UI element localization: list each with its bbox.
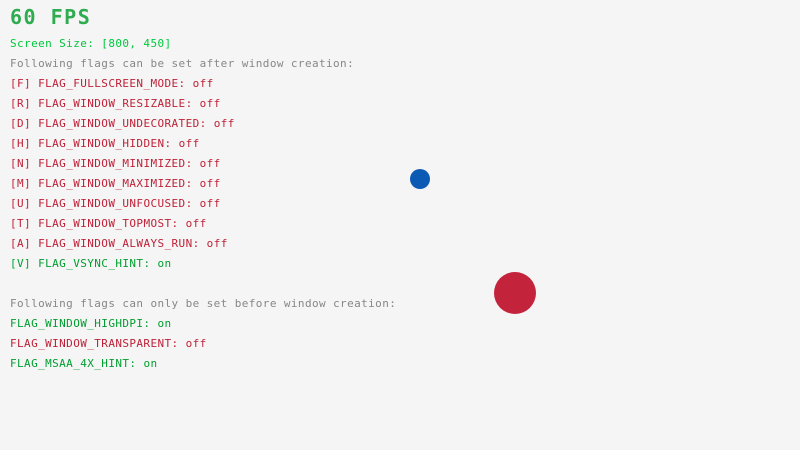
flag-value: off [200, 97, 221, 110]
flag-hotkey: [D] [10, 117, 31, 130]
flag-value: off [200, 177, 221, 190]
flag-value: off [186, 217, 207, 230]
flag-row-flag-window-always-run[interactable]: [A] FLAG_WINDOW_ALWAYS_RUN: off [10, 238, 228, 249]
flag-value: off [186, 337, 207, 350]
flag-hotkey: [U] [10, 197, 31, 210]
flag-value: off [179, 137, 200, 150]
flag-value: off [207, 237, 228, 250]
flag-row-flag-window-topmost[interactable]: [T] FLAG_WINDOW_TOPMOST: off [10, 218, 207, 229]
flag-row-flag-window-transparent[interactable]: FLAG_WINDOW_TRANSPARENT: off [10, 338, 207, 349]
flag-row-flag-window-highdpi[interactable]: FLAG_WINDOW_HIGHDPI: on [10, 318, 172, 329]
flag-name: FLAG_WINDOW_MINIMIZED: [38, 157, 193, 170]
flag-hotkey: [M] [10, 177, 31, 190]
flag-name: FLAG_WINDOW_UNFOCUSED: [38, 197, 193, 210]
flag-row-flag-window-maximized[interactable]: [M] FLAG_WINDOW_MAXIMIZED: off [10, 178, 221, 189]
flag-value: on [157, 317, 171, 330]
flag-name: FLAG_WINDOW_ALWAYS_RUN: [38, 237, 200, 250]
flag-name: FLAG_WINDOW_TRANSPARENT: [10, 337, 179, 350]
fps-counter: 60 FPS [10, 7, 91, 27]
flag-name: FLAG_WINDOW_RESIZABLE: [38, 97, 193, 110]
flag-name: FLAG_WINDOW_TOPMOST: [38, 217, 178, 230]
flag-row-flag-window-minimized[interactable]: [N] FLAG_WINDOW_MINIMIZED: off [10, 158, 221, 169]
flag-row-flag-window-unfocused[interactable]: [U] FLAG_WINDOW_UNFOCUSED: off [10, 198, 221, 209]
flag-value: off [193, 77, 214, 90]
blue-circle-shape [410, 169, 430, 189]
flag-name: FLAG_WINDOW_MAXIMIZED: [38, 177, 193, 190]
flag-name: FLAG_WINDOW_HIGHDPI: [10, 317, 150, 330]
flag-row-flag-window-resizable[interactable]: [R] FLAG_WINDOW_RESIZABLE: off [10, 98, 221, 109]
flag-value: off [214, 117, 235, 130]
flag-name: FLAG_VSYNC_HINT: [38, 257, 150, 270]
flag-name: FLAG_WINDOW_UNDECORATED: [38, 117, 207, 130]
flag-value: off [200, 197, 221, 210]
flag-name: FLAG_FULLSCREEN_MODE: [38, 77, 185, 90]
red-circle-shape [494, 272, 536, 314]
flag-hotkey: [F] [10, 77, 31, 90]
flag-row-flag-fullscreen-mode[interactable]: [F] FLAG_FULLSCREEN_MODE: off [10, 78, 214, 89]
flag-row-flag-window-undecorated[interactable]: [D] FLAG_WINDOW_UNDECORATED: off [10, 118, 235, 129]
flag-name: FLAG_WINDOW_HIDDEN: [38, 137, 171, 150]
flag-row-flag-vsync-hint[interactable]: [V] FLAG_VSYNC_HINT: on [10, 258, 172, 269]
flag-row-flag-window-hidden[interactable]: [H] FLAG_WINDOW_HIDDEN: off [10, 138, 200, 149]
section-header-0: Following flags can be set after window … [10, 58, 354, 69]
flag-hotkey: [N] [10, 157, 31, 170]
flag-value: on [158, 257, 172, 270]
flag-hotkey: [H] [10, 137, 31, 150]
flag-hotkey: [R] [10, 97, 31, 110]
flag-hotkey: [T] [10, 217, 31, 230]
flag-name: FLAG_MSAA_4X_HINT: [10, 357, 136, 370]
flag-hotkey: [V] [10, 257, 31, 270]
raylib-window-canvas[interactable]: 60 FPS Screen Size: [800, 450] Following… [0, 0, 800, 450]
flag-value: off [200, 157, 221, 170]
section-header-1: Following flags can only be set before w… [10, 298, 396, 309]
flag-row-flag-msaa-4x-hint[interactable]: FLAG_MSAA_4X_HINT: on [10, 358, 157, 369]
screen-size-label: Screen Size: [800, 450] [10, 38, 172, 49]
flag-hotkey: [A] [10, 237, 31, 250]
flag-value: on [143, 357, 157, 370]
